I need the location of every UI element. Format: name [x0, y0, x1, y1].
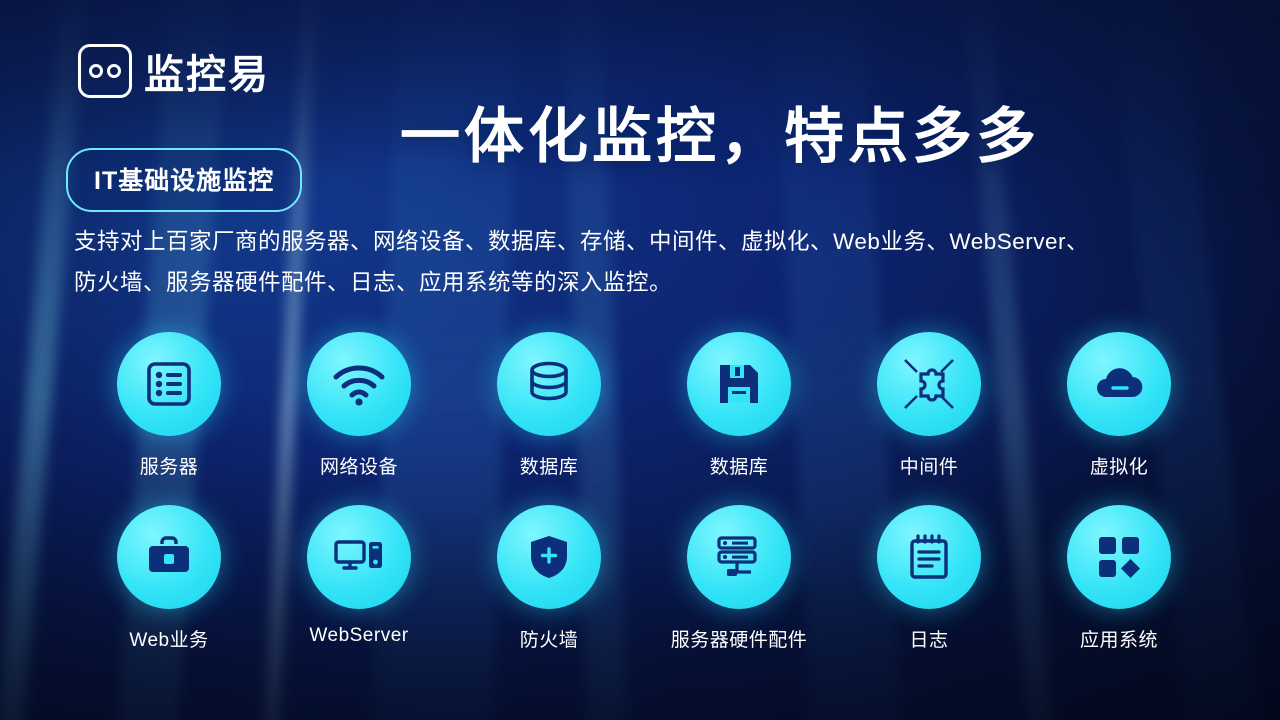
- wifi-signal-icon: [307, 332, 411, 436]
- binoculars-logo-icon: [78, 44, 132, 98]
- description: 支持对上百家厂商的服务器、网络设备、数据库、存储、中间件、虚拟化、Web业务、W…: [74, 222, 1224, 304]
- puzzle-piece-icon: [877, 332, 981, 436]
- feature-label: 中间件: [900, 452, 959, 479]
- shield-icon: [497, 505, 601, 609]
- feature-item-database[interactable]: 数据库: [454, 332, 644, 479]
- four-blocks-app-icon: [1067, 505, 1171, 609]
- server-hardware-icon: [687, 505, 791, 609]
- feature-item-server-hardware[interactable]: 服务器硬件配件: [644, 505, 834, 652]
- description-line-1: 支持对上百家厂商的服务器、网络设备、数据库、存储、中间件、虚拟化、Web业务、W…: [74, 222, 1224, 263]
- feature-label: 数据库: [520, 452, 579, 479]
- feature-label: 防火墙: [520, 625, 579, 652]
- feature-item-network[interactable]: 网络设备: [264, 332, 454, 479]
- brand-logo: 监控易: [78, 42, 270, 100]
- cloud-icon: [1067, 332, 1171, 436]
- status-badge: IT基础设施监控: [66, 148, 302, 212]
- feature-label: 服务器: [140, 452, 199, 479]
- feature-item-middleware[interactable]: 中间件: [834, 332, 1024, 479]
- feature-label: 虚拟化: [1090, 452, 1149, 479]
- feature-label: 日志: [909, 625, 948, 652]
- feature-label: 数据库: [710, 452, 769, 479]
- feature-item-webserver[interactable]: WebServer: [264, 505, 454, 652]
- page-title: 一体化监控，特点多多: [400, 88, 1040, 175]
- feature-label: 应用系统: [1080, 625, 1158, 652]
- description-line-2: 防火墙、服务器硬件配件、日志、应用系统等的深入监控。: [74, 263, 1224, 304]
- notepad-log-icon: [877, 505, 981, 609]
- feature-item-server[interactable]: 服务器: [74, 332, 264, 479]
- feature-item-application[interactable]: 应用系统: [1024, 505, 1214, 652]
- feature-label: WebServer: [309, 625, 408, 647]
- brand-name: 监控易: [144, 42, 270, 100]
- server-rack-icon: [117, 332, 221, 436]
- feature-label: Web业务: [129, 625, 208, 652]
- feature-item-firewall[interactable]: 防火墙: [454, 505, 644, 652]
- feature-grid: 服务器 网络设备 数据库: [74, 332, 1214, 652]
- toolbox-icon: [117, 505, 221, 609]
- database-cylinder-icon: [497, 332, 601, 436]
- slide-content: 监控易 IT基础设施监控 一体化监控，特点多多 支持对上百家厂商的服务器、网络设…: [0, 0, 1280, 720]
- floppy-disk-storage-icon: [687, 332, 791, 436]
- feature-item-log[interactable]: 日志: [834, 505, 1024, 652]
- feature-label: 服务器硬件配件: [671, 625, 808, 652]
- desktop-tower-icon: [307, 505, 411, 609]
- feature-item-storage[interactable]: 数据库: [644, 332, 834, 479]
- feature-item-web-business[interactable]: Web业务: [74, 505, 264, 652]
- feature-item-virtualization[interactable]: 虚拟化: [1024, 332, 1214, 479]
- feature-label: 网络设备: [320, 452, 398, 479]
